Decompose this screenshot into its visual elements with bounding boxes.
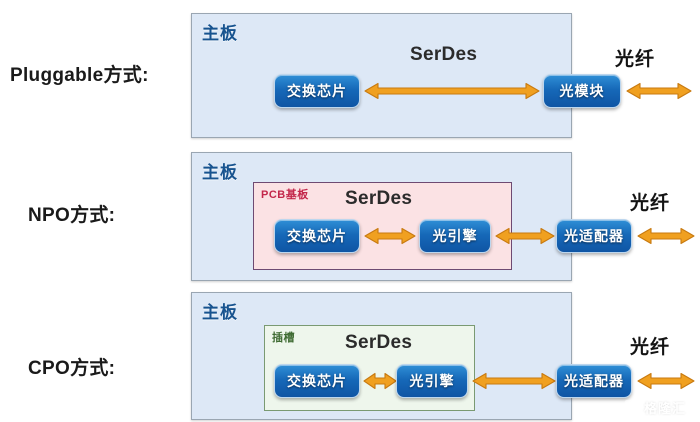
fiber-arrow-cpo — [637, 372, 695, 390]
fiber-label-npo: 光纤 — [630, 188, 670, 215]
fiber-label-pluggable: 光纤 — [615, 44, 655, 71]
watermark-text: 格隆汇 — [644, 398, 686, 417]
optical-engine-block-npo[interactable]: 光引擎 — [419, 219, 491, 253]
fiber-arrow-npo — [637, 227, 695, 245]
engine-adapter-arrow-cpo — [472, 372, 556, 390]
switch-chip-block-pluggable[interactable]: 交换芯片 — [274, 74, 360, 108]
serdes-arrow-pluggable — [364, 82, 540, 100]
motherboard-title: 主板 — [202, 19, 238, 44]
motherboard-panel-pluggable: 主板 — [191, 13, 572, 138]
optical-module-block-pluggable[interactable]: 光模块 — [543, 74, 621, 108]
serdes-label-pluggable: SerDes — [410, 44, 477, 66]
optical-adapter-block-npo[interactable]: 光适配器 — [556, 219, 632, 253]
switch-chip-block-cpo[interactable]: 交换芯片 — [274, 364, 360, 398]
motherboard-title: 主板 — [202, 298, 238, 323]
switch-chip-block-npo[interactable]: 交换芯片 — [274, 219, 360, 253]
watermark: 格隆汇 — [625, 398, 686, 417]
serdes-arrow-npo — [364, 227, 416, 245]
engine-adapter-arrow-npo — [495, 227, 555, 245]
row-label-npo: NPO方式: — [28, 200, 115, 227]
serdes-arrow-cpo — [363, 372, 397, 390]
serdes-label-npo: SerDes — [345, 188, 412, 210]
optical-adapter-block-cpo[interactable]: 光适配器 — [556, 364, 632, 398]
g-logo-icon — [625, 400, 640, 415]
serdes-label-cpo: SerDes — [345, 332, 412, 354]
row-label-pluggable: Pluggable方式: — [10, 60, 149, 87]
pcb-substrate-title: PCB基板 — [261, 186, 309, 202]
diagram-canvas: Pluggable方式: 主板 SerDes 交换芯片 光模块 光纤 NPO方式… — [0, 0, 700, 422]
fiber-arrow-pluggable — [626, 82, 692, 100]
motherboard-title: 主板 — [202, 158, 238, 183]
row-label-cpo: CPO方式: — [28, 353, 115, 380]
fiber-label-cpo: 光纤 — [630, 332, 670, 359]
slot-title: 插槽 — [272, 329, 295, 345]
optical-engine-block-cpo[interactable]: 光引擎 — [396, 364, 468, 398]
